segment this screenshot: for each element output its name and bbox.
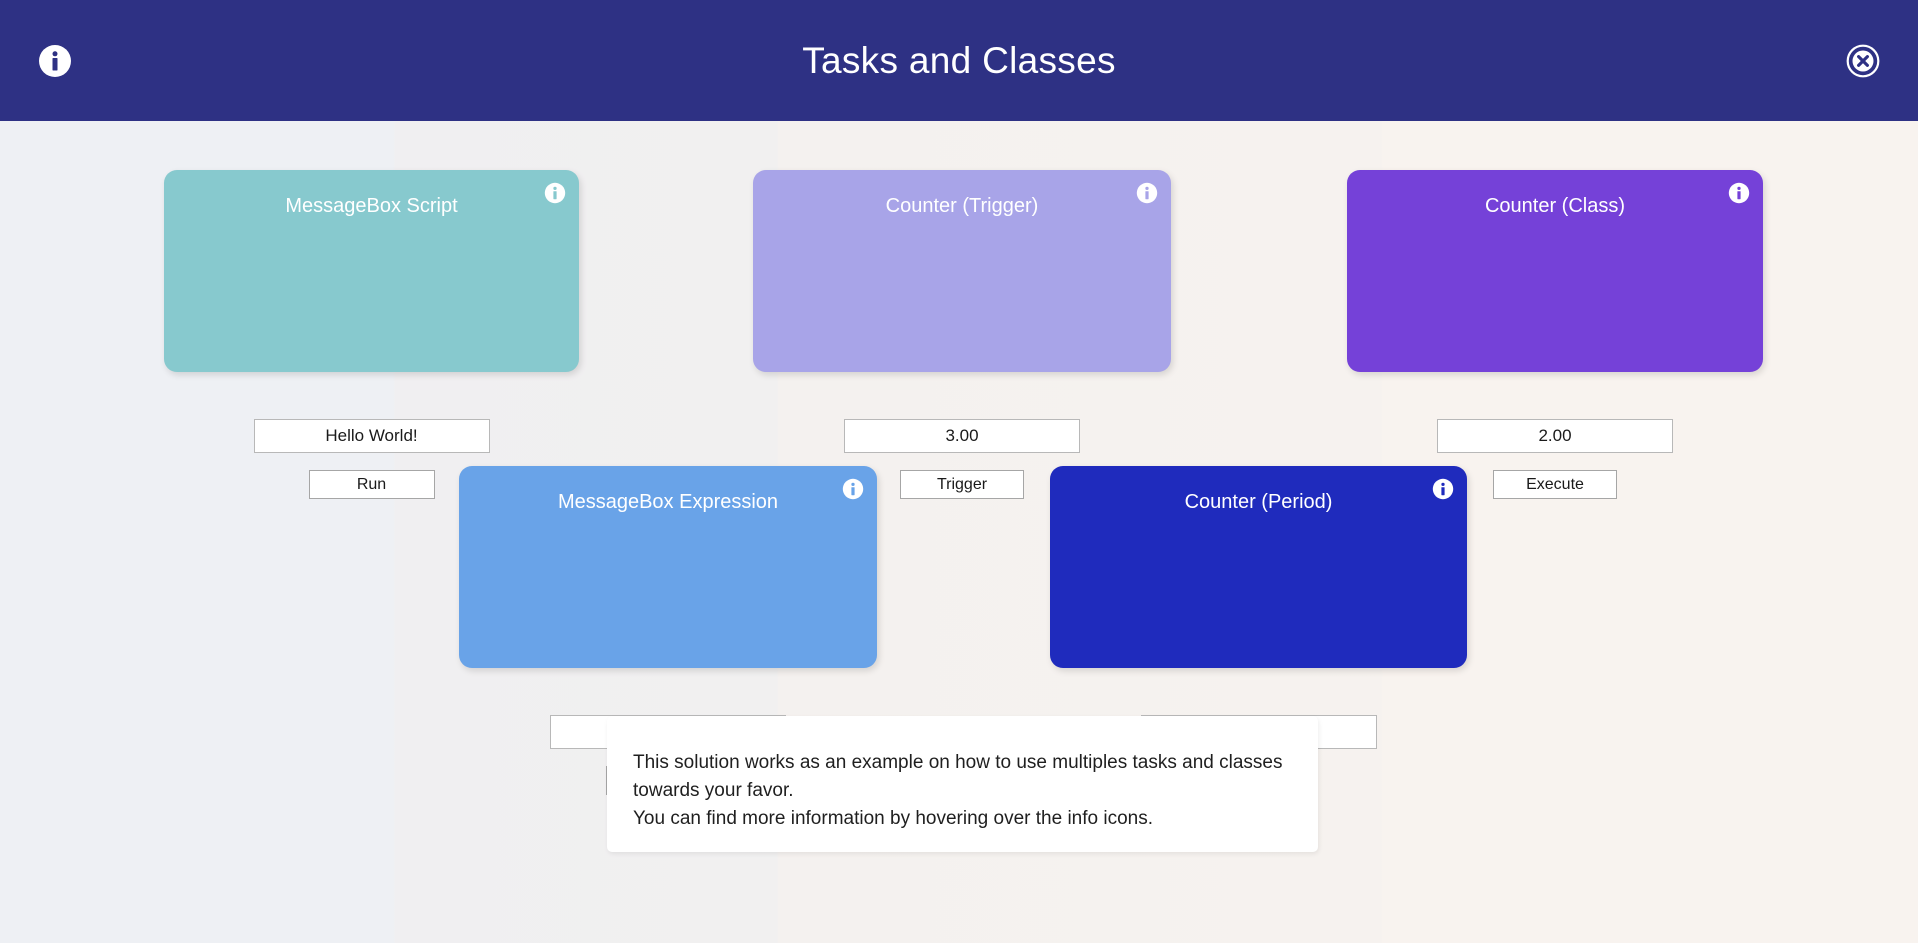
application-window: Tasks and Classes MessageBox Script Hell…	[0, 0, 1918, 943]
trigger-button[interactable]: Trigger	[900, 470, 1024, 499]
page-title: Tasks and Classes	[802, 42, 1116, 79]
info-icon[interactable]	[842, 478, 864, 500]
title-bar: Tasks and Classes	[0, 0, 1918, 121]
card-title: Counter (Class)	[1347, 196, 1763, 216]
value-field[interactable]: 3.00	[844, 419, 1080, 453]
card-messagebox-script: MessageBox Script Hello World! Run	[164, 170, 579, 372]
card-counter-period: Counter (Period) 9.00	[1050, 466, 1467, 668]
card-counter-trigger: Counter (Trigger) 3.00 Trigger	[753, 170, 1171, 372]
info-icon[interactable]	[1728, 182, 1750, 204]
card-title: MessageBox Expression	[459, 492, 877, 512]
info-icon[interactable]	[1432, 478, 1454, 500]
info-icon[interactable]	[1136, 182, 1158, 204]
card-title: Counter (Trigger)	[753, 196, 1171, 216]
run-button[interactable]: Run	[309, 470, 435, 499]
card-title: Counter (Period)	[1050, 492, 1467, 512]
card-title: MessageBox Script	[164, 196, 579, 216]
value-field[interactable]: 2.00	[1437, 419, 1673, 453]
close-icon[interactable]	[1846, 44, 1880, 78]
info-panel: This solution works as an example on how…	[607, 716, 1318, 852]
info-icon[interactable]	[38, 44, 72, 78]
value-field[interactable]: Hello World!	[254, 419, 490, 453]
info-panel-text: This solution works as an example on how…	[633, 749, 1292, 833]
card-messagebox-expression: MessageBox Expression Hello World! Run	[459, 466, 877, 668]
info-icon[interactable]	[544, 182, 566, 204]
execute-button[interactable]: Execute	[1493, 470, 1617, 499]
card-counter-class: Counter (Class) 2.00 Execute	[1347, 170, 1763, 372]
